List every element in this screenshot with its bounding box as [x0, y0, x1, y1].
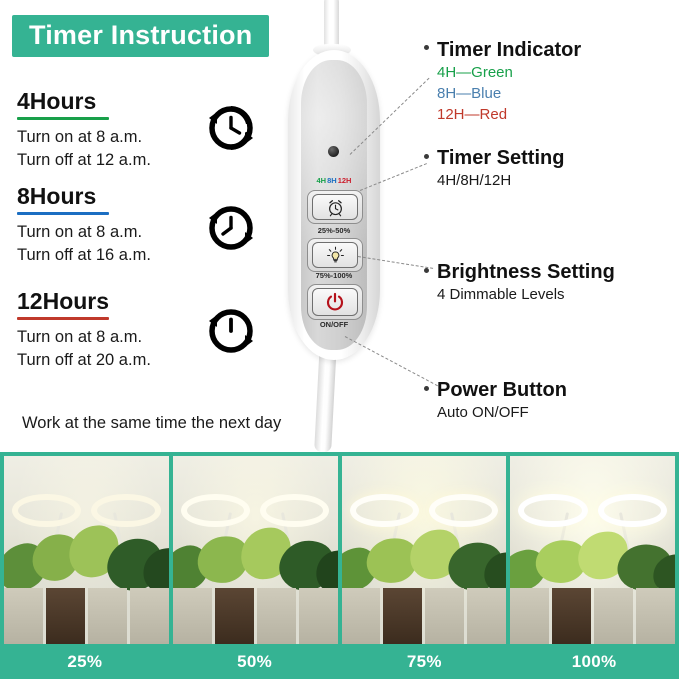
- timer-heading-underline: [17, 212, 109, 215]
- annotation-sub: 4 Dimmable Levels: [437, 284, 615, 305]
- page-title: Timer Instruction: [29, 20, 252, 50]
- pot-row: [342, 588, 507, 644]
- pot: [46, 588, 85, 644]
- alarm-clock-icon: [326, 198, 345, 217]
- timer-off-line: Turn off at 20 a.m.: [17, 349, 202, 372]
- timer-block-4hours: 4Hours Turn on at 8 a.m. Turn off at 12 …: [17, 88, 202, 172]
- annotation-power-button: Power Button Auto ON/OFF: [437, 378, 567, 423]
- pot: [130, 588, 169, 644]
- timer-heading: 4Hours: [17, 88, 96, 115]
- pot: [383, 588, 422, 644]
- annotation-title: Power Button: [437, 378, 567, 402]
- brightness-levels-high-label: 75%-100%: [301, 271, 367, 280]
- clock-refresh-8h-icon: [203, 200, 259, 256]
- timer-off-line: Turn off at 12 a.m.: [17, 149, 202, 172]
- power-icon: [325, 292, 345, 312]
- annotation-title: Timer Indicator: [437, 38, 581, 62]
- pot-row: [173, 588, 338, 644]
- annotation-sub-4h: 4H—Green: [437, 62, 581, 83]
- photo-brightness-75: [342, 456, 507, 644]
- timer-heading-underline: [17, 317, 109, 320]
- pot: [215, 588, 254, 644]
- timer-mode-4h-label: 4H: [317, 176, 327, 185]
- annotation-sub: Auto ON/OFF: [437, 402, 567, 423]
- brightness-levels-low-label: 25%-50%: [301, 226, 367, 235]
- light-bulb-icon: [326, 246, 345, 265]
- leader-bullet-timer-indicator: [424, 45, 429, 50]
- brightness-button-face: [312, 242, 358, 268]
- power-button-label: ON/OFF: [301, 320, 367, 329]
- photo-brightness-50: [173, 456, 338, 644]
- timer-heading: 8Hours: [17, 183, 96, 210]
- annotation-brightness-setting: Brightness Setting 4 Dimmable Levels: [437, 260, 615, 305]
- timer-heading: 12Hours: [17, 288, 109, 315]
- leader-bullet-timer-setting: [424, 154, 429, 159]
- timer-button-face: [312, 194, 358, 220]
- brightness-label-25: 25%: [0, 652, 170, 672]
- pot: [88, 588, 127, 644]
- annotation-title: Timer Setting: [437, 146, 564, 170]
- leader-bullet-brightness-setting: [424, 268, 429, 273]
- infographic-page: Timer Instruction 4Hours Turn on at 8 a.…: [0, 0, 679, 679]
- page-title-banner: Timer Instruction: [12, 15, 269, 57]
- pot: [173, 588, 212, 644]
- timer-block-8hours: 8Hours Turn on at 8 a.m. Turn off at 16 …: [17, 183, 202, 267]
- annotation-timer-setting: Timer Setting 4H/8H/12H: [437, 146, 564, 191]
- pot: [4, 588, 43, 644]
- pot: [342, 588, 381, 644]
- pot: [257, 588, 296, 644]
- leader-bullet-power-button: [424, 386, 429, 391]
- pot: [299, 588, 338, 644]
- brightness-label-row: 25% 50% 75% 100%: [0, 644, 679, 679]
- photo-brightness-25: [4, 456, 169, 644]
- controller-device: 4H8H12H 25%-50%: [268, 0, 398, 450]
- annotation-sub-12h: 12H—Red: [437, 104, 581, 125]
- timer-heading-underline: [17, 117, 109, 120]
- brightness-comparison-strip: 25% 50% 75% 100%: [0, 452, 679, 679]
- pot: [467, 588, 506, 644]
- annotation-title: Brightness Setting: [437, 260, 615, 284]
- pot-row: [510, 588, 675, 644]
- brightness-label-100: 100%: [509, 652, 679, 672]
- clock-refresh-4h-icon: [203, 100, 259, 156]
- pot: [594, 588, 633, 644]
- brightness-label-50: 50%: [170, 652, 340, 672]
- timer-on-line: Turn on at 8 a.m.: [17, 326, 202, 349]
- photo-row: [0, 452, 679, 644]
- pot: [552, 588, 591, 644]
- annotation-sub-8h: 8H—Blue: [437, 83, 581, 104]
- pot: [636, 588, 675, 644]
- timer-block-12hours: 12Hours Turn on at 8 a.m. Turn off at 20…: [17, 288, 202, 372]
- timer-mode-12h-label: 12H: [338, 176, 352, 185]
- annotation-sub: 4H/8H/12H: [437, 170, 564, 191]
- timer-setting-button[interactable]: [307, 190, 363, 224]
- timer-mode-legend: 4H8H12H: [304, 176, 364, 185]
- pot: [425, 588, 464, 644]
- annotation-timer-indicator: Timer Indicator 4H—Green 8H—Blue 12H—Red: [437, 38, 581, 125]
- timer-off-line: Turn off at 16 a.m.: [17, 244, 202, 267]
- clock-refresh-12h-icon: [203, 303, 259, 359]
- led-indicator-dot: [328, 146, 339, 157]
- timer-mode-8h-label: 8H: [327, 176, 337, 185]
- pot-row: [4, 588, 169, 644]
- pot: [510, 588, 549, 644]
- timer-on-line: Turn on at 8 a.m.: [17, 126, 202, 149]
- brightness-label-75: 75%: [340, 652, 510, 672]
- power-button[interactable]: [307, 284, 363, 320]
- timer-on-line: Turn on at 8 a.m.: [17, 221, 202, 244]
- footnote-text: Work at the same time the next day: [22, 412, 281, 434]
- brightness-setting-button[interactable]: [307, 238, 363, 272]
- power-button-face: [312, 288, 358, 316]
- photo-brightness-100: [510, 456, 675, 644]
